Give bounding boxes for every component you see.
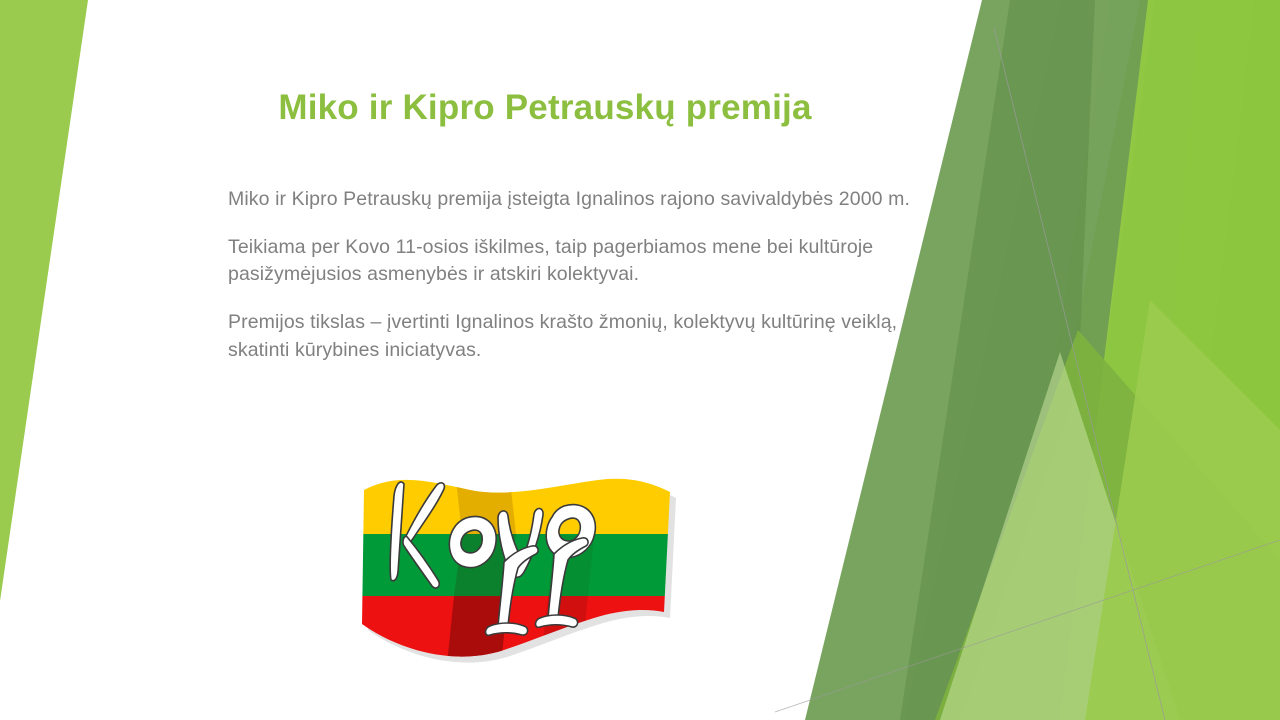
body-paragraph: Miko ir Kipro Petrauskų premija įsteigta… — [228, 186, 928, 214]
presentation-slide: Miko ir Kipro Petrauskų premija Miko ir … — [0, 0, 1280, 720]
decoration-right-band-yellowgreen — [1000, 0, 1255, 720]
lithuanian-flag-kovo-11-image: Kovo 11 — [358, 462, 680, 674]
body-paragraph: Premijos tikslas – įvertinti Ignalinos k… — [228, 309, 928, 364]
decoration-right-bright-1 — [1055, 0, 1280, 720]
body-paragraph: Teikiama per Kovo 11-osios iškilmes, tai… — [228, 234, 928, 289]
slide-title: Miko ir Kipro Petrauskų premija — [140, 88, 950, 128]
decoration-left-wedge — [0, 0, 88, 601]
flag-stripe-yellow — [358, 462, 680, 534]
flag-fold-shadow-red — [446, 596, 508, 674]
decoration-right-bright-2 — [1140, 0, 1280, 720]
decoration-lower-green-triangle — [935, 330, 1280, 720]
slide-body-text: Miko ir Kipro Petrauskų premija įsteigta… — [228, 186, 928, 364]
decoration-right-pale-3 — [1000, 0, 1280, 720]
decoration-lower-bright-block — [1085, 300, 1280, 720]
decoration-lower-tint-triangle — [940, 352, 1180, 720]
decoration-hairline-vertical — [994, 28, 1165, 720]
decoration-hairline-diagonal — [775, 540, 1280, 712]
decoration-right-pale-2 — [905, 0, 1280, 720]
